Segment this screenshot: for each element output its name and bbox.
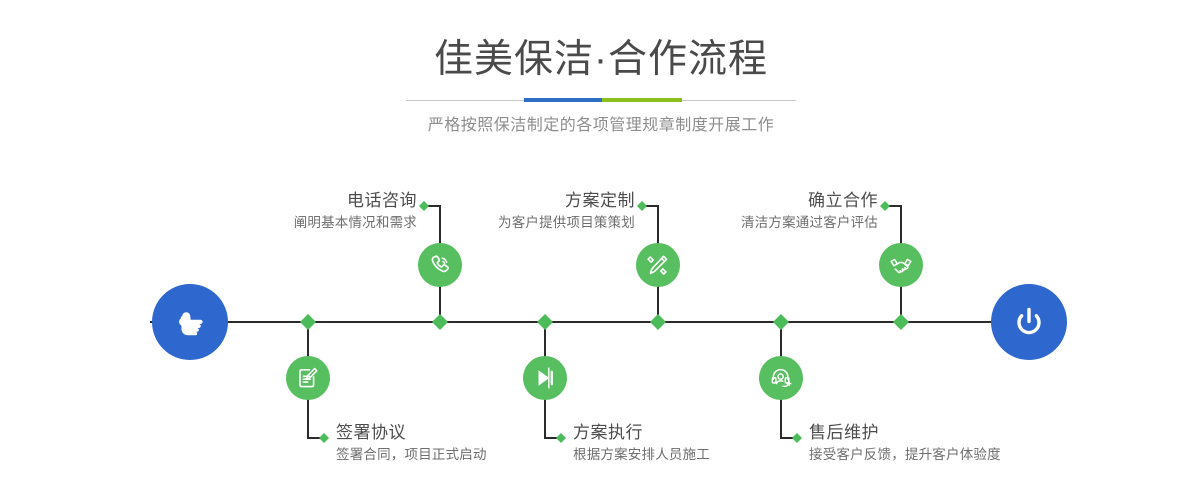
axis-diamond-6 xyxy=(893,314,909,330)
flow-diagram: 电话咨询 阐明基本情况和需求 方案定制 为客户提供项目策策划 确立合作 清洁方案… xyxy=(0,0,1202,502)
step-node-step-5[interactable] xyxy=(879,243,923,287)
step-label-step-6: 售后维护 接受客户反馈，提升客户体验度 xyxy=(809,422,1109,465)
step-title-step-1: 电话咨询 xyxy=(155,190,417,212)
axis-diamond-1 xyxy=(300,314,316,330)
axis-diamond-5 xyxy=(773,314,789,330)
axis-diamond-2 xyxy=(432,314,448,330)
flow-end-endpoint[interactable] xyxy=(991,284,1067,360)
step-title-step-3: 方案定制 xyxy=(380,190,635,212)
label-diamond-step-5 xyxy=(880,201,890,211)
label-diamond-step-2 xyxy=(319,433,329,443)
step-title-step-5: 确立合作 xyxy=(625,190,878,212)
step-node-step-6[interactable] xyxy=(759,356,803,400)
step-label-step-3: 方案定制 为客户提供项目策策划 xyxy=(380,190,635,233)
handshake-icon xyxy=(888,252,914,278)
step-node-step-3[interactable] xyxy=(636,243,680,287)
phone-call-icon xyxy=(427,252,453,278)
pointing-hand-icon xyxy=(170,302,210,342)
process-flow-page: 佳美保洁·合作流程 严格按照保洁制定的各项管理规章制度开展工作 xyxy=(0,0,1202,502)
flow-start-endpoint[interactable] xyxy=(152,284,228,360)
step-node-step-4[interactable] xyxy=(523,356,567,400)
step-node-step-2[interactable] xyxy=(286,356,330,400)
step-title-step-6: 售后维护 xyxy=(809,422,1109,444)
pencil-ruler-icon xyxy=(645,252,671,278)
play-execute-icon xyxy=(532,365,558,391)
step-desc-step-5: 清洁方案通过客户评估 xyxy=(625,212,878,233)
step-desc-step-6: 接受客户反馈，提升客户体验度 xyxy=(809,444,1109,465)
step-label-step-5: 确立合作 清洁方案通过客户评估 xyxy=(625,190,878,233)
document-edit-icon xyxy=(295,365,321,391)
step-desc-step-3: 为客户提供项目策策划 xyxy=(380,212,635,233)
headset-support-icon xyxy=(768,365,794,391)
power-icon xyxy=(1009,302,1049,342)
axis-diamond-4 xyxy=(650,314,666,330)
step-node-step-1[interactable] xyxy=(418,243,462,287)
step-label-step-1: 电话咨询 阐明基本情况和需求 xyxy=(155,190,417,233)
axis-diamond-3 xyxy=(537,314,553,330)
step-desc-step-1: 阐明基本情况和需求 xyxy=(155,212,417,233)
